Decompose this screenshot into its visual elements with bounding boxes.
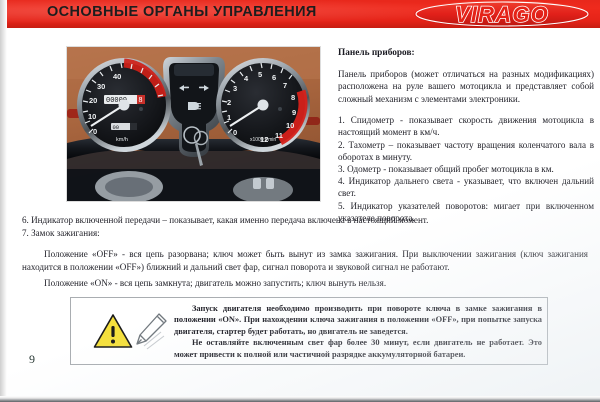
svg-text:0: 0: [233, 128, 237, 137]
warning-paragraph-1: Запуск двигателя необходимо производить …: [174, 303, 542, 337]
section-heading: Панель приборов:: [338, 48, 594, 58]
svg-text:6: 6: [272, 73, 276, 82]
page-header-banner: ОСНОВНЫЕ ОРГАНЫ УПРАВЛЕНИЯ VIRAGO: [0, 0, 600, 28]
list-item: 4. Индикатор дальнего света - указывает,…: [338, 175, 594, 199]
warning-triangle-icon: [93, 313, 133, 349]
svg-text:5: 5: [258, 70, 262, 79]
list-item-7: 7. Замок зажигания:: [22, 227, 588, 239]
svg-text:10: 10: [286, 121, 294, 130]
svg-text:20: 20: [89, 96, 97, 105]
virago-logo: VIRAGO: [412, 0, 592, 28]
svg-text:1: 1: [227, 113, 231, 122]
dashboard-photo: 0 10 20 30 40 00000 8 00: [67, 47, 320, 201]
svg-text:30: 30: [97, 82, 105, 91]
svg-text:0: 0: [93, 127, 97, 136]
svg-text:00: 00: [113, 124, 120, 131]
pencil-note-icon: [131, 310, 171, 352]
warning-icon-group: [77, 304, 169, 360]
list-item-6: 6. Индикатор включенной передачи – показ…: [22, 214, 588, 226]
svg-text:8: 8: [291, 93, 295, 102]
page-number: 9: [29, 352, 35, 367]
intro-paragraph: Панель приборов (может отличаться на раз…: [338, 68, 594, 105]
instrument-panel-text-column: Панель приборов: Панель приборов (может …: [338, 48, 594, 224]
svg-text:VIRAGO: VIRAGO: [455, 2, 549, 27]
ignition-on-paragraph: Положение «ON» - вся цепь замкнута; двиг…: [22, 277, 588, 290]
manual-page: ОСНОВНЫЕ ОРГАНЫ УПРАВЛЕНИЯ VIRAGO: [0, 0, 600, 402]
speedometer-dial: 0 10 20 30 40 00000 8 00: [77, 58, 171, 152]
high-beam-indicator-glyph: [188, 102, 201, 110]
svg-text:11: 11: [275, 131, 283, 140]
svg-text:km/h: km/h: [116, 137, 128, 143]
svg-text:8: 8: [138, 97, 142, 105]
svg-text:10: 10: [88, 112, 96, 121]
scan-bottom-edge: [0, 396, 600, 402]
ignition-off-paragraph: Положение «OFF» - вся цепь разорвана; кл…: [22, 248, 588, 273]
tachometer-dial: 0 1 2 3 4 5 6 7 8 9 10 11 12 x1000 r: [216, 58, 310, 152]
warning-box: Запуск двигателя необходимо производить …: [70, 297, 548, 365]
list-item: 3. Одометр - показывает общий пробег мот…: [338, 163, 594, 175]
scan-left-edge: [0, 0, 7, 402]
svg-text:x1000 r/min: x1000 r/min: [250, 137, 276, 143]
warning-text: Запуск двигателя необходимо производить …: [174, 303, 542, 360]
svg-text:7: 7: [283, 81, 287, 90]
svg-text:40: 40: [113, 72, 121, 81]
list-item: 1. Спидометр - показывает скорость движе…: [338, 114, 594, 138]
svg-text:3: 3: [233, 84, 237, 93]
svg-text:9: 9: [292, 108, 296, 117]
warning-paragraph-2: Не оставляйте включенным свет фар более …: [174, 337, 542, 360]
svg-text:2: 2: [227, 98, 231, 107]
list-item: 2. Тахометр – показывает частоту вращени…: [338, 139, 594, 163]
page-title: ОСНОВНЫЕ ОРГАНЫ УПРАВЛЕНИЯ: [47, 4, 317, 20]
